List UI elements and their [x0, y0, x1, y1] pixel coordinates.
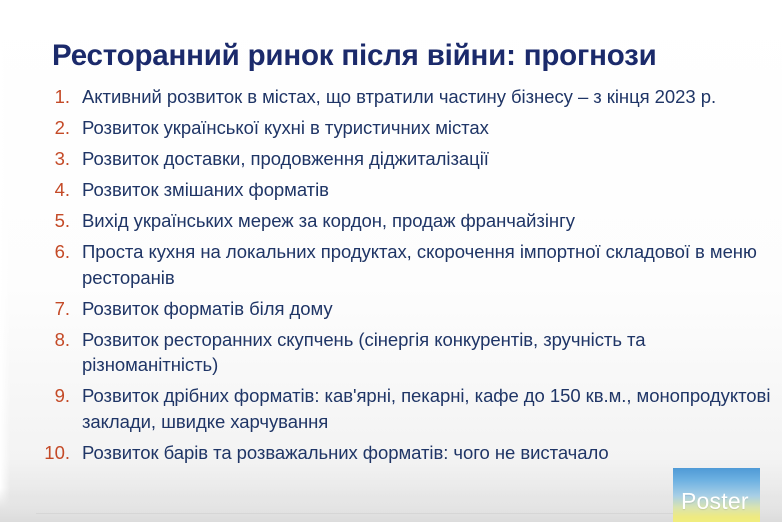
list-item: 7. Розвиток форматів біля дому — [36, 296, 772, 322]
list-item-text: Розвиток української кухні в туристичних… — [82, 115, 772, 141]
list-item-text: Розвиток доставки, продовження діджиталі… — [82, 146, 772, 172]
list-item: 2. Розвиток української кухні в туристич… — [36, 115, 772, 141]
slide-left-edge-shading — [0, 0, 10, 522]
presentation-slide: Ресторанний ринок після війни: прогнози … — [0, 0, 782, 522]
list-item-number: 5. — [36, 208, 82, 234]
list-item-number: 1. — [36, 84, 82, 110]
list-item-text: Розвиток барів та розважальних форматів:… — [82, 440, 772, 466]
list-item: 4. Розвиток змішаних форматів — [36, 177, 772, 203]
list-item-text: Розвиток форматів біля дому — [82, 296, 772, 322]
poster-logo: Poster — [673, 468, 760, 522]
list-item-text: Розвиток дрібних форматів: кав'ярні, пек… — [82, 383, 772, 434]
slide-bottom-shading — [0, 488, 782, 522]
list-item-text: Розвиток ресторанних скупчень (сінергія … — [82, 327, 772, 378]
list-item-number: 7. — [36, 296, 82, 322]
list-item: 8. Розвиток ресторанних скупчень (сінерг… — [36, 327, 772, 378]
list-item-number: 8. — [36, 327, 82, 353]
list-item-number: 6. — [36, 239, 82, 265]
list-item: 1. Активний розвиток в містах, що втрати… — [36, 84, 772, 110]
poster-logo-label: Poster — [681, 488, 749, 514]
slide-bottom-divider — [36, 513, 746, 514]
slide-title: Ресторанний ринок після війни: прогнози — [52, 39, 752, 73]
forecast-list: 1. Активний розвиток в містах, що втрати… — [36, 84, 772, 471]
list-item-text: Активний розвиток в містах, що втратили … — [82, 84, 772, 110]
list-item-number: 3. — [36, 146, 82, 172]
list-item: 5. Вихід українських мереж за кордон, пр… — [36, 208, 772, 234]
list-item-text: Вихід українських мереж за кордон, прода… — [82, 208, 772, 234]
list-item-number: 9. — [36, 383, 82, 409]
list-item: 6. Проста кухня на локальних продуктах, … — [36, 239, 772, 290]
list-item-text: Розвиток змішаних форматів — [82, 177, 772, 203]
list-item: 3. Розвиток доставки, продовження діджит… — [36, 146, 772, 172]
list-item: 9. Розвиток дрібних форматів: кав'ярні, … — [36, 383, 772, 434]
list-item-text: Проста кухня на локальних продуктах, ско… — [82, 239, 772, 290]
list-item-number: 4. — [36, 177, 82, 203]
list-item-number: 10. — [36, 440, 82, 466]
list-item-number: 2. — [36, 115, 82, 141]
list-item: 10. Розвиток барів та розважальних форма… — [36, 440, 772, 466]
